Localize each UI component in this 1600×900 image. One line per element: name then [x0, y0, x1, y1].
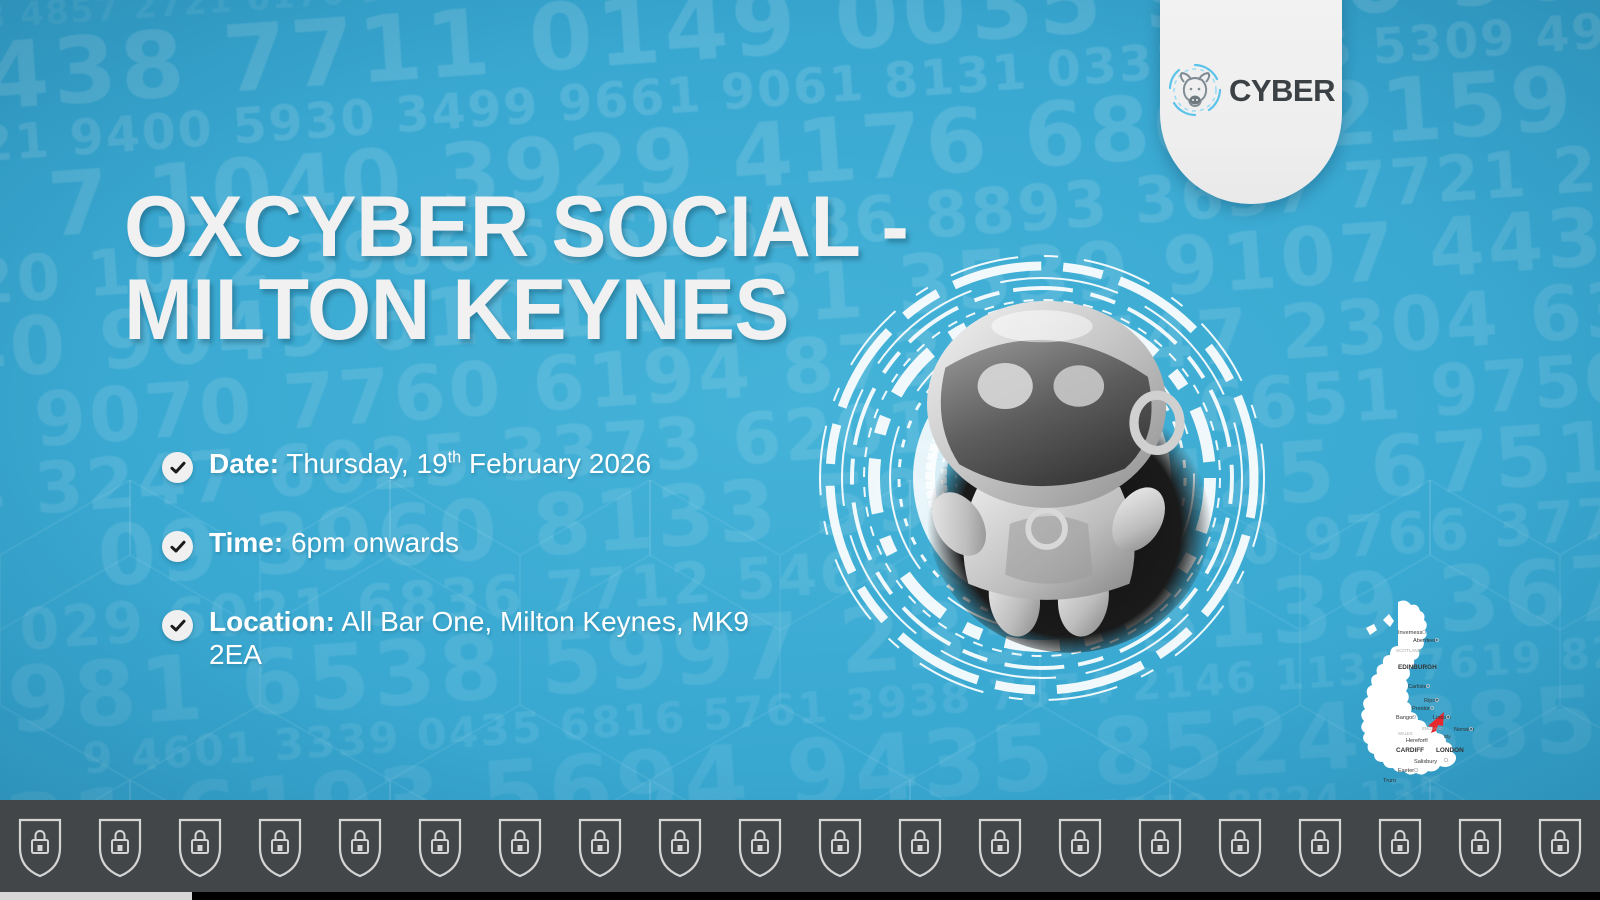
brand-wordmark: CYBER — [1229, 75, 1335, 106]
detail-label: Date: — [209, 448, 279, 479]
check-circle-icon — [162, 610, 193, 641]
map-label: WALES — [1398, 731, 1413, 736]
map-label: Aberdeen — [1413, 638, 1437, 644]
map-label: LONDON — [1436, 747, 1464, 754]
map-label: Ely — [1444, 734, 1451, 740]
ox-head-icon — [1167, 62, 1223, 118]
map-label: Preston — [1412, 706, 1431, 712]
map-label: CARDIFF — [1396, 747, 1424, 754]
map-label: Lincoln — [1433, 715, 1451, 721]
map-label: ENGLAND — [1422, 726, 1443, 731]
progress-scrollbar[interactable] — [0, 892, 1600, 900]
detail-label: Time: — [209, 527, 283, 558]
map-label: Truro — [1383, 778, 1396, 784]
map-label: Exeter — [1398, 768, 1414, 774]
page-title: OxCyber Social - Milton Keynes — [124, 186, 950, 353]
check-circle-icon — [162, 452, 193, 483]
map-label: Bangor — [1396, 715, 1414, 721]
map-label: Carlisle — [1408, 684, 1427, 690]
detail-label: Location: — [209, 606, 335, 637]
detail-text: Date: Thursday, 19th February 2026 — [209, 448, 651, 481]
footer-shield-pattern — [0, 800, 1600, 892]
map-label: SCOTLAND — [1396, 648, 1422, 653]
title-line-1: OxCyber Social - — [124, 186, 950, 269]
flyer-canvas: 14 4463 4857 2721 6170 9194 1900 9013 55… — [0, 0, 1600, 900]
uk-map-graphic: Inverness Aberdeen SCOTLAND EDINBURGH Ca… — [1336, 592, 1496, 792]
detail-row: Location: All Bar One, Milton Keynes, MK… — [162, 606, 802, 672]
brand-logo-panel: CYBER — [1160, 0, 1342, 204]
check-circle-icon — [162, 531, 193, 562]
detail-value: 6pm onwards — [291, 527, 459, 558]
map-label: Norwich — [1454, 727, 1474, 733]
event-details-list: Date: Thursday, 19th February 2026Time: … — [162, 448, 802, 716]
map-label: Inverness — [1398, 630, 1422, 636]
detail-text: Time: 6pm onwards — [209, 527, 459, 560]
detail-row: Date: Thursday, 19th February 2026 — [162, 448, 802, 483]
detail-text: Location: All Bar One, Milton Keynes, MK… — [209, 606, 802, 672]
map-label: Salisbury — [1414, 759, 1437, 765]
detail-row: Time: 6pm onwards — [162, 527, 802, 562]
detail-value: Thursday, 19th February 2026 — [286, 448, 651, 479]
title-line-2: Milton Keynes — [124, 269, 950, 352]
progress-thumb[interactable] — [0, 892, 192, 900]
map-label: EDINBURGH — [1398, 664, 1437, 671]
